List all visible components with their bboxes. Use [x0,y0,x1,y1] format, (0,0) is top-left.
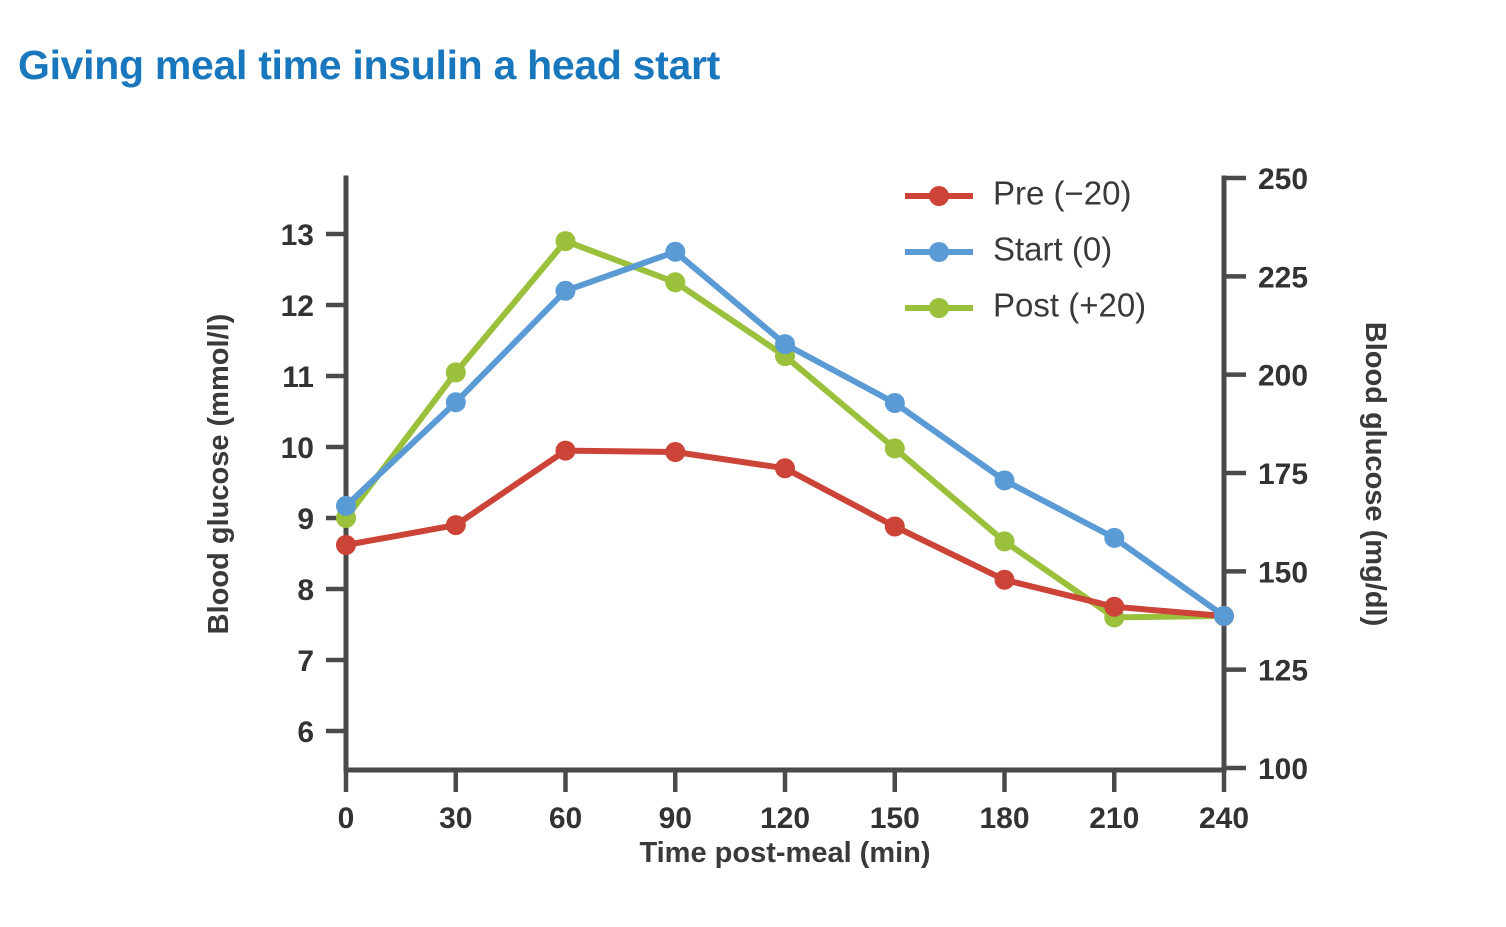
series-data-point [885,438,905,458]
legend-item-1: Start (0) [905,231,1112,268]
series-data-point [556,231,576,251]
x-axis-tick-label: 120 [760,802,810,835]
legend-swatch-dot [929,186,949,206]
y-axis-right-tick-label: 125 [1258,655,1308,688]
y-axis-left-tick-label: 11 [282,361,314,394]
series-data-point [556,281,576,301]
y-axis-left-tick-label: 12 [281,290,314,323]
series-data-point [336,496,356,516]
x-axis-tick-label: 180 [979,802,1029,835]
y-axis-left-tick-label: 10 [281,432,314,465]
y-axis-left-tick-label: 13 [281,219,314,252]
figure-page: Giving meal time insulin a head start 67… [0,0,1506,927]
chart-tick-labels: 6789101112131001251501752002252500306090… [281,163,1308,835]
y-axis-right-tick-label: 200 [1258,360,1308,393]
x-axis-tick-label: 240 [1199,802,1249,835]
x-axis-tick-label: 60 [549,802,582,835]
x-axis-tick-label: 90 [659,802,692,835]
series-data-point [995,470,1015,490]
legend-label: Post (+20) [993,287,1146,324]
series-data-point [885,517,905,537]
x-axis-tick-label: 150 [870,802,920,835]
series-data-point [556,441,576,461]
x-axis-tick-label: 30 [439,802,472,835]
series-data-point [665,272,685,292]
line-chart: 6789101112131001251501752002252500306090… [0,0,1506,927]
series-data-point [885,393,905,413]
y-axis-right-tick-label: 225 [1258,261,1308,294]
y-axis-right-tick-label: 250 [1258,163,1308,196]
chart-legend: Pre (−20)Start (0)Post (+20) [905,175,1146,324]
series-data-point [446,392,466,412]
y-axis-left-title: Blood glucose (mmol/l) [203,314,235,635]
series-data-point [775,458,795,478]
x-axis-tick-label: 0 [338,802,355,835]
series-data-point [336,535,356,555]
legend-label: Pre (−20) [993,175,1131,212]
x-axis-tick-label: 210 [1089,802,1139,835]
series-data-point [995,570,1015,590]
chart-figure: 6789101112131001251501752002252500306090… [0,0,1506,927]
y-axis-left-tick-label: 8 [297,574,314,607]
y-axis-left-tick-label: 9 [297,503,314,536]
x-axis-title: Time post-meal (min) [639,837,930,869]
legend-swatch-dot [929,242,949,262]
legend-swatch-dot [929,298,949,318]
series-data-point [446,362,466,382]
legend-item-2: Post (+20) [905,287,1146,324]
series-data-point [775,334,795,354]
series-data-point [446,515,466,535]
legend-label: Start (0) [993,231,1112,268]
y-axis-right-tick-label: 100 [1258,753,1308,786]
chart-axes [326,178,1246,792]
series-data-point [665,442,685,462]
series-data-point [1214,606,1234,626]
y-axis-left-tick-label: 7 [297,645,314,678]
y-axis-left-tick-label: 6 [297,716,314,749]
legend-item-0: Pre (−20) [905,175,1131,212]
series-data-point [1104,528,1124,548]
y-axis-right-title: Blood glucose (mg/dl) [1359,322,1391,627]
y-axis-right-tick-label: 175 [1258,458,1308,491]
y-axis-right-tick-label: 150 [1258,556,1308,589]
series-data-point [1104,597,1124,617]
chart-axis-titles: Blood glucose (mmol/l)Blood glucose (mg/… [203,314,1391,869]
series-data-point [995,531,1015,551]
series-data-point [665,242,685,262]
